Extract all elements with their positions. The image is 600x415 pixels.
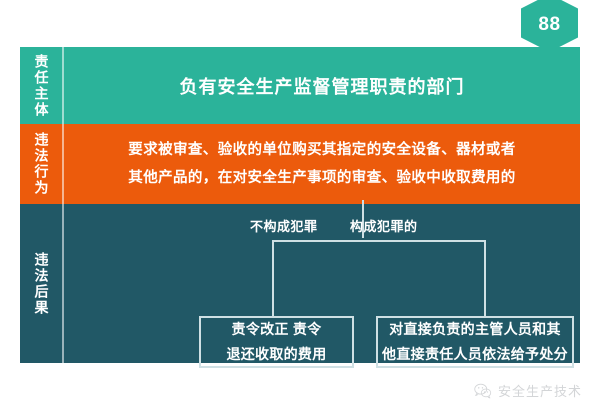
wechat-icon	[474, 383, 492, 399]
page-number-text: 88	[538, 10, 560, 36]
row-label-subject-text: 责任主体	[33, 54, 50, 118]
outcome-box-crime-text: 对直接负责的主管人员和其 他直接责任人员依法给予处分	[382, 317, 568, 367]
flow-drop-line-right	[484, 240, 486, 318]
slide-canvas: 88 责任主体 负有安全生产监督管理职责的部门 违法行为 要求被审查、验收的单位…	[0, 0, 600, 415]
row-label-result-text: 违法后果	[33, 252, 50, 316]
branch-label-crime: 构成犯罪的	[350, 216, 418, 235]
row-label-result: 违法后果	[20, 204, 64, 363]
act-description-line-2: 其他产品的，在对安全生产事项的审查、验收中收取费用的	[128, 164, 515, 192]
table-row-subject: 责任主体 负有安全生产监督管理职责的部门	[20, 47, 580, 124]
consequence-flowchart: 不构成犯罪 构成犯罪的 责令改正 责令 退还收取的费用 对直接负责的主管人员和其	[64, 204, 580, 363]
outcome-box-no-crime: 责令改正 责令 退还收取的费用	[199, 316, 354, 368]
outcome-right-line-1: 对直接负责的主管人员和其	[382, 317, 568, 342]
outcome-left-line-2: 退还收取的费用	[226, 342, 326, 367]
footer-watermark: 安全生产技术	[474, 381, 582, 400]
row-label-act: 违法行为	[20, 124, 64, 204]
row-content-result: 不构成犯罪 构成犯罪的 责令改正 责令 退还收取的费用 对直接负责的主管人员和其	[64, 204, 580, 363]
row-content-subject: 负有安全生产监督管理职责的部门	[64, 47, 580, 124]
liability-table: 责任主体 负有安全生产监督管理职责的部门 违法行为 要求被审查、验收的单位购买其…	[20, 47, 580, 363]
table-row-result: 违法后果 不构成犯罪 构成犯罪的 责令改正 责令 退还收取的费用	[20, 204, 580, 363]
outcome-box-no-crime-text: 责令改正 责令 退还收取的费用	[226, 317, 326, 367]
act-description: 要求被审查、验收的单位购买其指定的安全设备、器材或者 其他产品的，在对安全生产事…	[110, 136, 533, 192]
row-label-subject: 责任主体	[20, 47, 64, 124]
page-number-badge: 88	[521, 0, 578, 52]
act-description-line-1: 要求被审查、验收的单位购买其指定的安全设备、器材或者	[128, 136, 515, 164]
table-row-act: 违法行为 要求被审查、验收的单位购买其指定的安全设备、器材或者 其他产品的，在对…	[20, 124, 580, 204]
subject-headline: 负有安全生产监督管理职责的部门	[180, 73, 465, 99]
branch-label-no-crime: 不构成犯罪	[250, 216, 318, 235]
flow-horizontal-connector	[272, 240, 486, 242]
flow-drop-line-left	[272, 240, 274, 318]
row-content-act: 要求被审查、验收的单位购买其指定的安全设备、器材或者 其他产品的，在对安全生产事…	[64, 124, 580, 204]
outcome-right-line-2: 他直接责任人员依法给予处分	[382, 342, 568, 367]
outcome-left-line-1: 责令改正 责令	[226, 317, 326, 342]
row-label-act-text: 违法行为	[33, 132, 50, 196]
footer-text: 安全生产技术	[498, 381, 582, 400]
outcome-box-crime: 对直接负责的主管人员和其 他直接责任人员依法给予处分	[376, 316, 574, 368]
